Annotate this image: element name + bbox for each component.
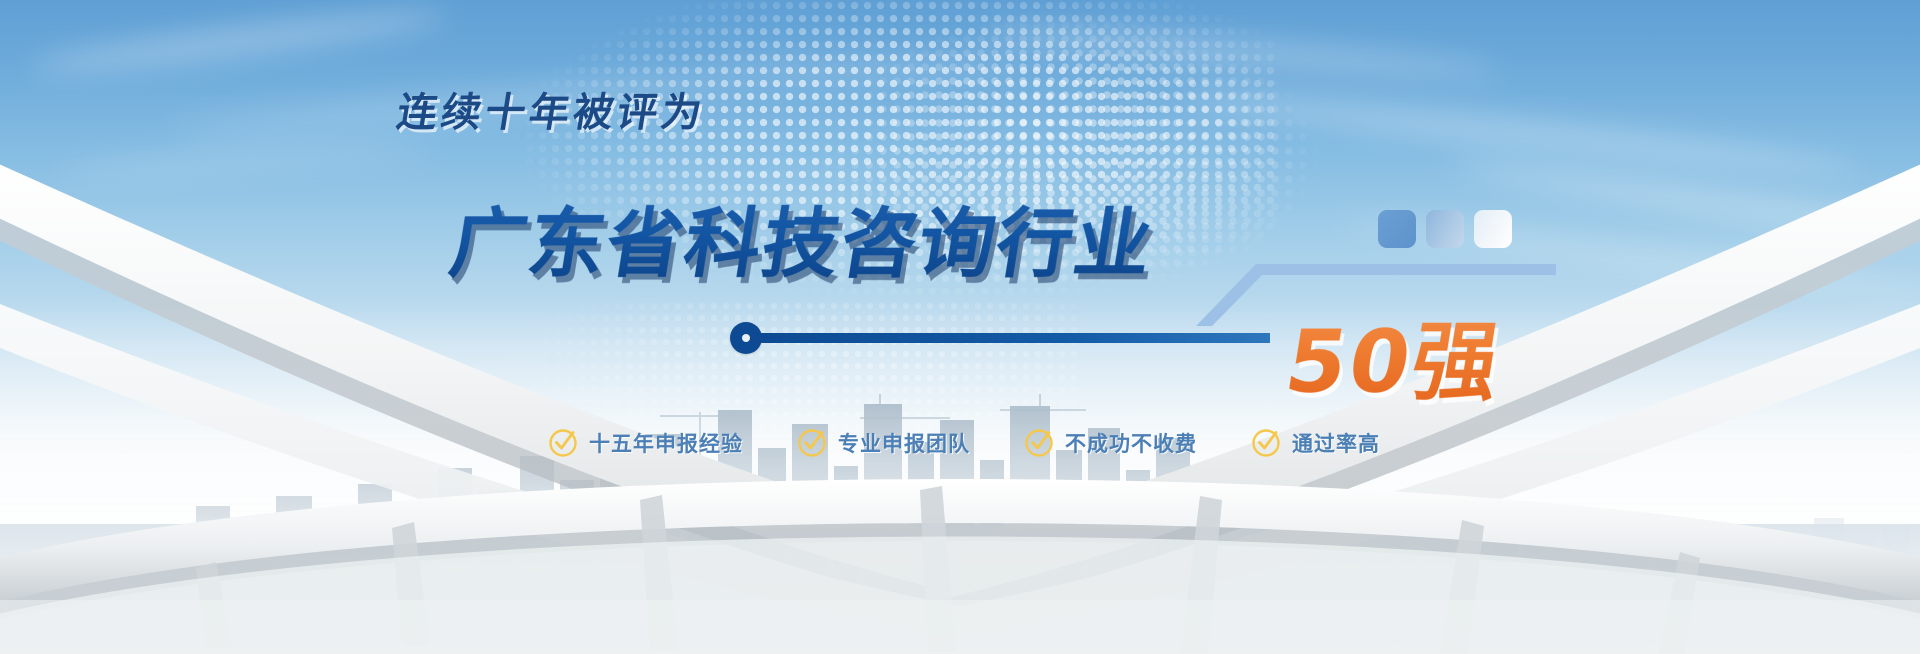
check-circle-icon xyxy=(548,428,578,458)
banner-eyebrow: 连续十年被评为 xyxy=(393,80,710,138)
feature-item: 十五年申报经验 xyxy=(548,428,743,458)
feature-label: 十五年申报经验 xyxy=(589,428,743,458)
square-1-icon xyxy=(1378,210,1416,248)
rank-badge-text: 50强 xyxy=(1278,292,1512,417)
feature-label: 通过率高 xyxy=(1292,428,1380,458)
line-bar-icon xyxy=(756,333,1270,343)
check-circle-icon xyxy=(1251,428,1281,458)
check-circle-icon xyxy=(1024,428,1054,458)
square-2-icon xyxy=(1426,210,1464,248)
feature-item: 专业申报团队 xyxy=(797,428,970,458)
square-3-icon xyxy=(1474,210,1512,248)
promo-banner: 连续十年被评为 广东省科技咨询行业 50强 十五年申报经 xyxy=(0,0,1920,654)
square-decoration-group xyxy=(1378,210,1512,248)
feature-item: 不成功不收费 xyxy=(1024,428,1197,458)
check-circle-icon xyxy=(797,428,827,458)
feature-label: 专业申报团队 xyxy=(838,428,970,458)
banner-headline: 广东省科技咨询行业 xyxy=(443,182,1162,292)
feature-label: 不成功不收费 xyxy=(1065,428,1197,458)
feature-item: 通过率高 xyxy=(1251,428,1380,458)
banner-content: 连续十年被评为 广东省科技咨询行业 50强 十五年申报经 xyxy=(0,0,1920,654)
feature-list: 十五年申报经验 专业申报团队 不成功不收费 xyxy=(548,428,1380,458)
